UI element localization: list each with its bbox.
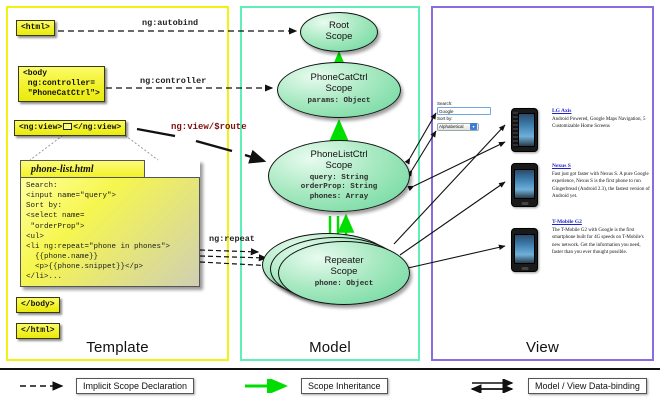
legend-label-implicit: Implicit Scope Declaration bbox=[76, 378, 194, 394]
ngview-slot-icon bbox=[63, 123, 72, 130]
scope-phonelistctrl-props: query: String orderProp: String phones: … bbox=[301, 174, 378, 202]
label-ng-autobind: ng:autobind bbox=[142, 18, 198, 28]
sort-select-value: Alphabetical bbox=[439, 123, 464, 131]
search-widget: Search: Google Sort by: Alphabetical ▾ bbox=[437, 101, 493, 131]
phone-screen bbox=[518, 113, 535, 147]
phone-thumbnail-nexus-s bbox=[511, 163, 538, 207]
phone-snippet: The T-Mobile G2 with Google is the first… bbox=[552, 227, 652, 256]
phone-screen bbox=[514, 169, 535, 199]
search-label: Search: bbox=[437, 101, 493, 107]
scope-repeater-props: phone: Object bbox=[315, 280, 374, 289]
legend-label-inheritance: Scope Inheritance bbox=[301, 378, 388, 394]
phone-thumbnail-lg-axis bbox=[511, 108, 538, 152]
section-model-label: Model bbox=[242, 339, 418, 356]
search-input[interactable]: Google bbox=[437, 107, 491, 115]
phone-home-button bbox=[521, 267, 528, 270]
code-note-phone-list: phone-list.html Search: <input name="que… bbox=[20, 160, 200, 287]
phone-snippet: Fast just got faster with Nexus S. A pur… bbox=[552, 171, 652, 200]
section-view-label: View bbox=[433, 339, 652, 356]
legend-label-databinding: Model / View Data-binding bbox=[528, 378, 647, 394]
phone-home-button bbox=[521, 202, 528, 205]
double-arrow-icon bbox=[470, 379, 522, 393]
sort-select[interactable]: Alphabetical ▾ bbox=[437, 123, 479, 131]
diagram-canvas: Template Model View bbox=[0, 0, 660, 405]
tag-ngview: <ng:view></ng:view> bbox=[14, 120, 126, 136]
phone-screen bbox=[514, 234, 535, 264]
scope-repeater-title-2: Scope bbox=[331, 267, 358, 278]
phone-name-link[interactable]: LG Axis bbox=[552, 108, 652, 114]
phone-list-item: LG Axis Android Powered, Google Maps Nav… bbox=[552, 108, 652, 131]
phone-thumbnail-t-mobile-g2 bbox=[511, 228, 538, 272]
label-ng-controller: ng:controller bbox=[140, 76, 206, 86]
sort-label: Sort by: bbox=[437, 116, 493, 122]
phone-snippet: Android Powered, Google Maps Navigation,… bbox=[552, 116, 652, 131]
chevron-down-icon: ▾ bbox=[470, 123, 477, 130]
scope-repeater: Repeater Scope phone: Object bbox=[278, 241, 410, 305]
scope-phonelistctrl-title-2: Scope bbox=[326, 161, 353, 172]
label-ng-view-route: ng:view/$route bbox=[171, 122, 247, 132]
phone-name-link[interactable]: Nexus S bbox=[552, 163, 652, 169]
tag-html-close: </html> bbox=[16, 323, 60, 339]
green-arrow-icon bbox=[243, 379, 295, 393]
legend-item-implicit: Implicit Scope Declaration bbox=[18, 378, 194, 394]
tag-ngview-close: </ng:view> bbox=[73, 123, 121, 132]
scope-phonelistctrl: PhoneListCtrl Scope query: String orderP… bbox=[268, 140, 410, 212]
legend: Implicit Scope Declaration Scope Inherit… bbox=[0, 368, 660, 405]
scope-root: Root Scope bbox=[300, 12, 378, 52]
scope-phonecatctrl-props: params: Object bbox=[307, 97, 370, 106]
tag-html-open: <html> bbox=[16, 20, 55, 36]
phone-list-item: Nexus S Fast just got faster with Nexus … bbox=[552, 163, 652, 200]
section-template-label: Template bbox=[8, 339, 227, 356]
scope-phonecatctrl: PhoneCatCtrl Scope params: Object bbox=[277, 62, 401, 118]
phone-name-link[interactable]: T-Mobile G2 bbox=[552, 219, 652, 225]
tag-body-open: <body ng:controller= "PhoneCatCtrl"> bbox=[18, 66, 105, 102]
label-ng-repeat: ng:repeat bbox=[209, 234, 255, 244]
scope-phonecatctrl-title-2: Scope bbox=[326, 84, 353, 95]
code-note-body: Search: <input name="query"> Sort by: <s… bbox=[20, 177, 200, 287]
legend-item-databinding: Model / View Data-binding bbox=[470, 378, 647, 394]
dashed-arrow-icon bbox=[18, 379, 70, 393]
legend-item-inheritance: Scope Inheritance bbox=[243, 378, 388, 394]
scope-root-title-2: Scope bbox=[326, 32, 353, 43]
phone-list-item: T-Mobile G2 The T-Mobile G2 with Google … bbox=[552, 219, 652, 256]
tag-body-close: </body> bbox=[16, 297, 60, 313]
code-note-filename: phone-list.html bbox=[20, 160, 145, 177]
tag-ngview-open: <ng:view> bbox=[19, 123, 62, 132]
